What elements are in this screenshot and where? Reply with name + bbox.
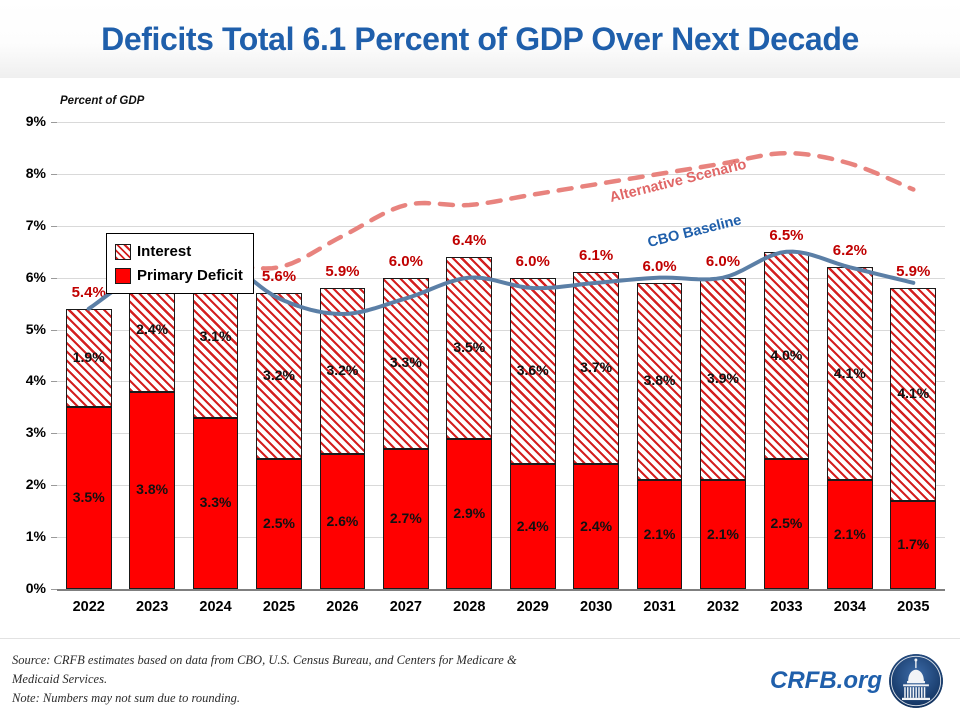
- brand-label: CRFB.org: [770, 667, 882, 695]
- page-title: Deficits Total 6.1 Percent of GDP Over N…: [101, 21, 859, 58]
- line-series-overlay: [0, 78, 960, 638]
- chart-header: Deficits Total 6.1 Percent of GDP Over N…: [0, 0, 960, 79]
- alternative-scenario-line: [216, 153, 914, 268]
- legend-item-primary-deficit: Primary Deficit: [115, 267, 243, 284]
- chart-footer: Source: CRFB estimates based on data fro…: [0, 638, 960, 721]
- chart-legend: Interest Primary Deficit: [106, 233, 254, 294]
- primary-deficit-swatch-icon: [115, 268, 131, 284]
- legend-label-interest: Interest: [137, 243, 191, 260]
- source-line-1: Source: CRFB estimates based on data fro…: [12, 653, 517, 668]
- chart-plot-area: Percent of GDP 0%1%2%3%4%5%6%7%8%9% 5.4%…: [0, 78, 960, 638]
- capitol-dome-logo-icon: [888, 653, 944, 709]
- legend-item-interest: Interest: [115, 243, 243, 260]
- brand-block: CRFB.org: [770, 653, 944, 709]
- rounding-note: Note: Numbers may not sum due to roundin…: [12, 691, 240, 706]
- legend-label-primary-deficit: Primary Deficit: [137, 267, 243, 284]
- interest-swatch-icon: [115, 244, 131, 260]
- source-line-2: Medicaid Services.: [12, 672, 107, 687]
